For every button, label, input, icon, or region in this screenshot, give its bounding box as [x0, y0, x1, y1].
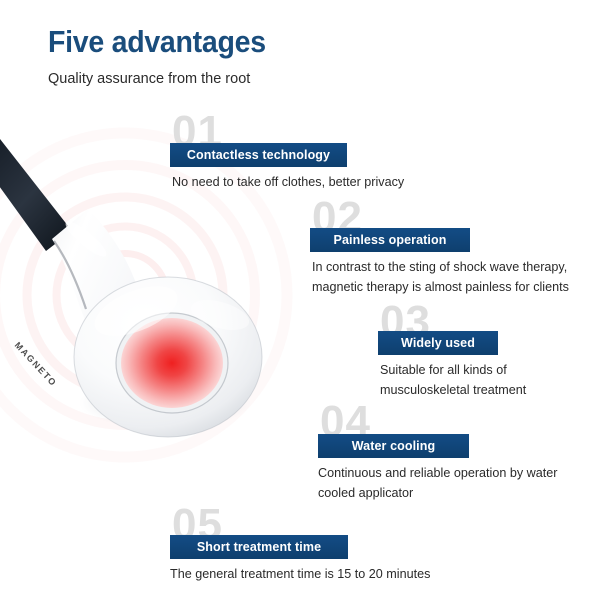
- advantage-description-04: Continuous and reliable operation by wat…: [318, 464, 557, 503]
- advantage-description-01: No need to take off clothes, better priv…: [172, 173, 404, 193]
- advantage-item-03: 03 Widely used Suitable for all kinds of…: [378, 300, 526, 400]
- device-brand-label: MAGNETO: [13, 340, 59, 389]
- magnetic-wave-ring-icon: [0, 160, 260, 430]
- advantage-badge-04[interactable]: Water cooling: [318, 434, 469, 458]
- advantage-badge-01[interactable]: Contactless technology: [170, 143, 347, 167]
- advantage-description-05: The general treatment time is 15 to 20 m…: [170, 565, 430, 585]
- advantage-badge-05[interactable]: Short treatment time: [170, 535, 348, 559]
- magnetic-wave-ring-icon: [80, 250, 170, 340]
- magnetic-wave-ring-icon: [53, 223, 198, 368]
- advantage-item-02: 02 Painless operation In contrast to the…: [310, 196, 569, 297]
- advantage-item-05: 05 Short treatment time The general trea…: [170, 503, 430, 585]
- advantage-description-02: In contrast to the sting of shock wave t…: [312, 258, 569, 297]
- magnetic-wave-ring-icon: [23, 193, 228, 398]
- advantage-item-01: 01 Contactless technology No need to tak…: [170, 110, 404, 193]
- page-title: Five advantages: [48, 26, 266, 59]
- advantage-description-03: Suitable for all kinds of musculoskeleta…: [380, 361, 526, 400]
- advantage-badge-02[interactable]: Painless operation: [310, 228, 470, 252]
- infographic-page: Five advantages Quality assurance from t…: [0, 0, 600, 600]
- page-subtitle: Quality assurance from the root: [48, 71, 285, 87]
- advantage-item-04: 04 Water cooling Continuous and reliable…: [318, 400, 557, 503]
- header: Five advantages Quality assurance from t…: [48, 26, 285, 87]
- advantage-badge-03[interactable]: Widely used: [378, 331, 498, 355]
